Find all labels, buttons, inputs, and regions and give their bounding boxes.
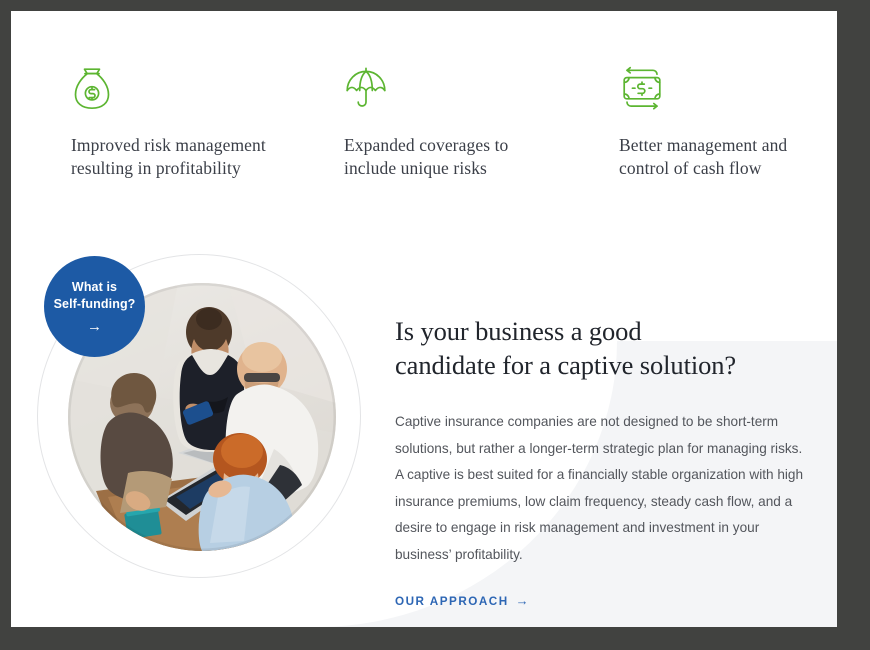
umbrella-icon [344,66,561,112]
benefit-item-cash-flow: Better management and control of cash fl… [561,11,836,180]
money-bag-icon [71,66,286,112]
feature-copy: Is your business a good candidate for a … [395,315,815,610]
badge-line-1: What is [72,279,117,296]
benefits-row: Improved risk management resulting in pr… [11,11,837,180]
heading-line-2: candidate for a captive solution? [395,350,736,380]
page-canvas: Improved risk management resulting in pr… [11,11,837,627]
feature-heading: Is your business a good candidate for a … [395,315,815,382]
our-approach-link[interactable]: OUR APPROACH→ [395,593,529,608]
benefit-item-risk-management: Improved risk management resulting in pr… [11,11,286,180]
benefit-label: Improved risk management resulting in pr… [71,134,286,180]
feature-media: What is Self-funding? → [37,247,373,583]
benefit-label: Better management and control of cash fl… [619,134,834,180]
benefit-label: Expanded coverages to include unique ris… [344,134,559,180]
benefit-item-expanded-coverage: Expanded coverages to include unique ris… [286,11,561,180]
screenshot-root: Improved risk management resulting in pr… [0,0,870,650]
feature-paragraph: Captive insurance companies are not desi… [395,409,807,568]
badge-line-2: Self-funding? [54,296,136,313]
arrow-right-icon: → [516,593,529,608]
cash-flow-icon [619,66,836,112]
feature-section: What is Self-funding? → Is your business… [11,247,837,627]
cta-label: OUR APPROACH [395,595,509,608]
what-is-self-funding-badge[interactable]: What is Self-funding? → [44,256,145,357]
heading-line-1: Is your business a good [395,316,642,346]
arrow-right-icon: → [87,319,102,334]
